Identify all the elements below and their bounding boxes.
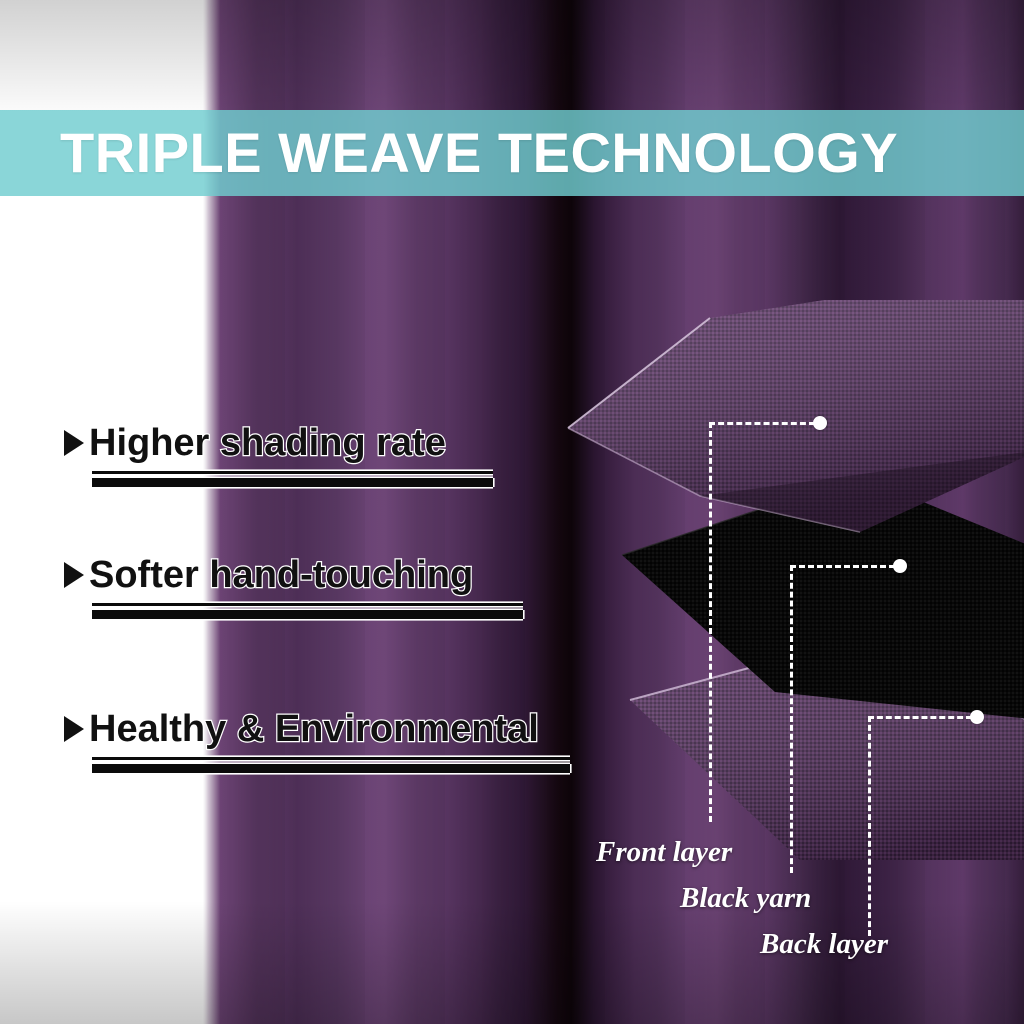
feature-item-healthy-environmental: Healthy & Environmental <box>64 710 570 773</box>
feature-item-higher-shading-rate: Higher shading rate <box>64 424 493 487</box>
triangle-right-icon <box>64 562 84 588</box>
banner-title: TRIPLE WEAVE TECHNOLOGY <box>60 125 898 181</box>
callout-leader-h-back-layer <box>868 716 972 719</box>
callout-leader-v-front-layer <box>709 422 712 822</box>
feature-label: Softer hand-touching <box>89 556 473 594</box>
feature-label: Healthy & Environmental <box>89 710 539 748</box>
callout-dot-front-layer <box>813 416 827 430</box>
feature-underline <box>92 603 523 619</box>
callout-leader-v-black-yarn <box>790 565 793 873</box>
feature-item-softer-hand-touching: Softer hand-touching <box>64 556 523 619</box>
callout-leader-h-black-yarn <box>790 565 895 568</box>
callout-dot-back-layer <box>970 710 984 724</box>
underline-thick-rule <box>92 764 570 773</box>
callout-leader-v-back-layer <box>868 716 871 936</box>
header-banner: TRIPLE WEAVE TECHNOLOGY <box>0 110 1024 196</box>
underline-thick-rule <box>92 610 523 619</box>
triple-weave-layer-diagram <box>560 300 1024 860</box>
triangle-right-icon <box>64 430 84 456</box>
callout-dot-black-yarn <box>893 559 907 573</box>
layer-label-back: Back layer <box>760 928 888 961</box>
underline-thin-rule <box>92 603 523 606</box>
feature-underline <box>92 471 493 487</box>
feature-label: Higher shading rate <box>89 424 446 462</box>
layer-label-black-yarn: Black yarn <box>680 882 811 915</box>
underline-thick-rule <box>92 478 493 487</box>
underline-thin-rule <box>92 757 570 760</box>
feature-underline <box>92 757 570 773</box>
product-feature-image: TRIPLE WEAVE TECHNOLOGY Higher shading r… <box>0 0 1024 1024</box>
callout-leader-h-front-layer <box>709 422 815 425</box>
underline-thin-rule <box>92 471 493 474</box>
layer-front <box>568 300 1024 532</box>
layer-label-front: Front layer <box>596 836 732 869</box>
triangle-right-icon <box>64 716 84 742</box>
